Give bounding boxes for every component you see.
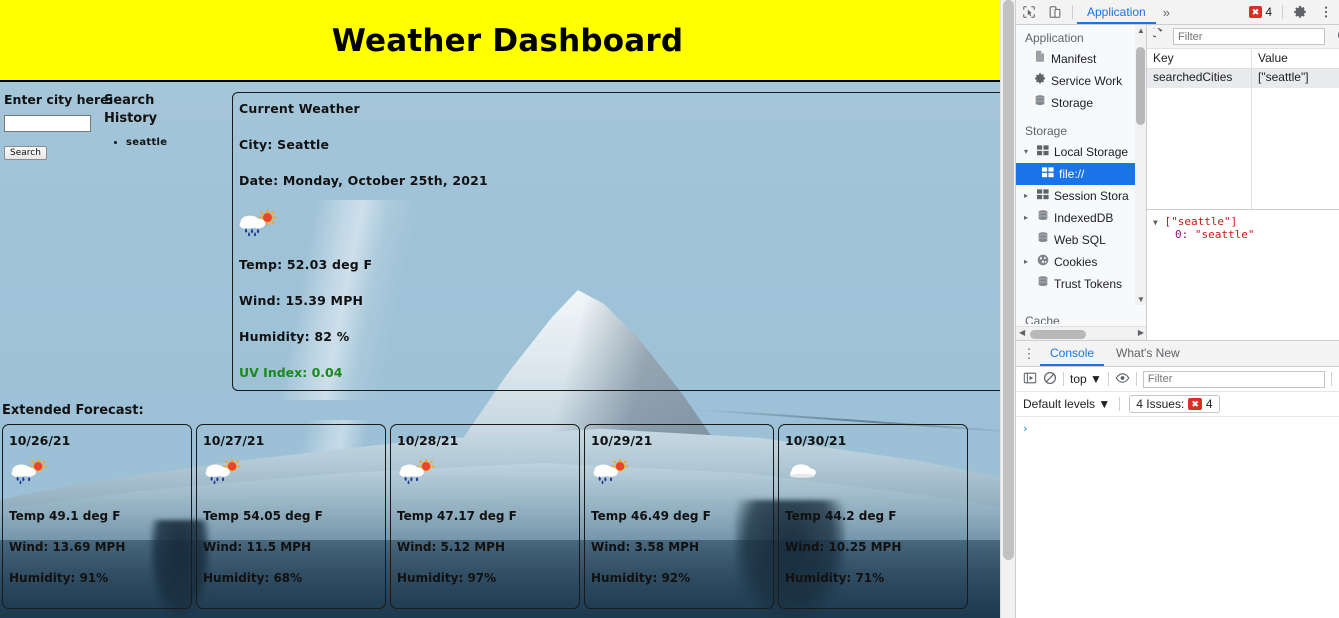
forecast-card: 10/26/21 Temp 49.1 deg F Wind: 13.69 MPH… xyxy=(2,424,192,609)
search-history-item[interactable]: seattle xyxy=(126,137,230,148)
console-levels-selector[interactable]: Default levels ▼ xyxy=(1023,397,1110,411)
column-header-value[interactable]: Value xyxy=(1252,49,1294,68)
tab-application[interactable]: Application xyxy=(1077,0,1156,24)
table-icon xyxy=(1037,187,1049,205)
cloud-icon xyxy=(787,458,967,491)
forecast-card: 10/28/21 Temp 47.17 deg F Wind: 5.12 MPH… xyxy=(390,424,580,609)
forecast-humidity: Humidity: 92% xyxy=(591,571,773,585)
current-humidity: Humidity: 82 % xyxy=(239,329,1006,344)
current-date: Date: Monday, October 25th, 2021 xyxy=(239,173,1006,188)
rain-sun-cloud-icon xyxy=(11,458,191,491)
table-row[interactable]: searchedCities ["seattle"] xyxy=(1147,69,1339,88)
forecast-wind: Wind: 13.69 MPH xyxy=(9,540,191,554)
forecast-card: 10/30/21 Temp 44.2 deg F Wind: 10.25 xyxy=(778,424,968,609)
screenshot-root: Weather Dashboard Enter city here: Searc… xyxy=(0,0,1339,618)
tab-whats-new[interactable]: What's New xyxy=(1106,341,1190,366)
rain-sun-cloud-icon xyxy=(239,209,1006,243)
local-storage-content: Key Value searchedCities ["seattle"] ▼ xyxy=(1147,25,1339,340)
forecast-humidity: Humidity: 71% xyxy=(785,571,967,585)
refresh-icon[interactable] xyxy=(1153,28,1167,45)
rain-sun-cloud-icon xyxy=(399,458,579,491)
extended-forecast-title: Extended Forecast: xyxy=(2,403,1015,418)
console-divider-2 xyxy=(1108,372,1109,386)
console-levels-label: Default levels xyxy=(1023,397,1095,411)
search-panel: Enter city here: Search xyxy=(0,92,100,160)
error-badge-icon: ✖ xyxy=(1188,398,1202,410)
forecast-wind: Wind: 5.12 MPH xyxy=(397,540,579,554)
page-header-banner: Weather Dashboard xyxy=(0,0,1015,82)
search-history-list: seattle xyxy=(104,137,230,148)
table-icon xyxy=(1042,165,1054,183)
sidebar-item-label: Storage xyxy=(1051,94,1093,112)
eye-icon[interactable] xyxy=(1115,372,1130,387)
value-preview-pane: ▼ ["seattle"] 0: "seattle" xyxy=(1147,209,1339,341)
devtools-toolbar: Application » ✖ 4 xyxy=(1016,0,1339,25)
current-wind: Wind: 15.39 MPH xyxy=(239,293,1006,308)
rain-sun-cloud-icon xyxy=(205,458,385,491)
preview-root-row[interactable]: ▼ ["seattle"] xyxy=(1153,215,1333,228)
application-sidebar: Application Manifest Service Work xyxy=(1016,25,1147,340)
forecast-temp: Temp 49.1 deg F xyxy=(9,509,191,523)
sidebar-item-file-origin[interactable]: file:// xyxy=(1016,163,1146,185)
issues-chip-count: 4 xyxy=(1206,397,1213,411)
devtools-panel: Application » ✖ 4 Applicat xyxy=(1015,0,1339,618)
cell-key: searchedCities xyxy=(1147,69,1252,88)
table-empty-key-col xyxy=(1147,88,1252,209)
sidebar-item-cookies[interactable]: ▸ Cookies xyxy=(1016,251,1146,273)
sidebar-item-indexeddb[interactable]: ▸ IndexedDB xyxy=(1016,207,1146,229)
cookie-icon xyxy=(1037,253,1049,271)
page-scrollbar-thumb[interactable] xyxy=(1003,0,1014,560)
chevron-down-icon[interactable]: ▼ xyxy=(1153,218,1158,227)
forecast-temp: Temp 46.49 deg F xyxy=(591,509,773,523)
search-history-title: Search History xyxy=(104,92,166,127)
sidebar-item-label: Trust Tokens xyxy=(1054,275,1122,293)
preview-root-value: ["seattle"] xyxy=(1164,215,1237,228)
sidebar-item-label: Service Work xyxy=(1051,72,1122,90)
storage-filter-input[interactable] xyxy=(1173,28,1325,45)
current-weather-heading: Current Weather xyxy=(239,101,1006,116)
sidebar-scrollbar-thumb[interactable] xyxy=(1136,47,1145,125)
forecast-humidity: Humidity: 91% xyxy=(9,571,191,585)
storage-filter-toolbar xyxy=(1147,25,1339,49)
inspect-cursor-icon[interactable] xyxy=(1016,0,1042,24)
table-icon xyxy=(1037,143,1049,161)
preview-entry-value: "seattle" xyxy=(1195,228,1255,241)
sidebar-section-storage: Storage xyxy=(1016,114,1146,141)
sidebar-item-service-workers[interactable]: Service Work xyxy=(1016,70,1146,92)
forecast-card: 10/29/21 Temp 46.49 deg F Wind: 3.58 MPH… xyxy=(584,424,774,609)
sidebar-section-cache-clipped: Cache xyxy=(1025,314,1060,324)
issues-chip[interactable]: 4 Issues: ✖ 4 xyxy=(1129,395,1219,413)
toolbar-divider xyxy=(1072,5,1073,19)
issues-counter[interactable]: ✖ 4 xyxy=(1243,5,1278,19)
sidebar-horizontal-scrollbar[interactable]: ◀ ▶ xyxy=(1016,326,1147,340)
chevron-down-icon[interactable]: ▾ xyxy=(1024,143,1032,161)
scroll-up-arrow-icon[interactable]: ▲ xyxy=(1137,26,1145,35)
forecast-date: 10/30/21 xyxy=(785,433,967,448)
manifest-file-icon xyxy=(1034,50,1046,68)
more-tabs-chevron-icon[interactable]: » xyxy=(1156,5,1177,20)
sidebar-item-web-sql[interactable]: Web SQL xyxy=(1016,229,1146,251)
sidebar-item-label: Cookies xyxy=(1054,253,1097,271)
gear-icon[interactable] xyxy=(1287,0,1313,24)
console-divider-3 xyxy=(1136,372,1137,386)
execution-context-icon[interactable] xyxy=(1023,371,1037,388)
console-levels-bar: Default levels ▼ 4 Issues: ✖ 4 xyxy=(1016,392,1339,417)
device-toolbar-icon[interactable] xyxy=(1042,0,1068,24)
console-divider-1 xyxy=(1063,372,1064,386)
search-input-label: Enter city here: xyxy=(4,92,100,107)
database-icon xyxy=(1037,275,1049,293)
preview-entry-row: 0: "seattle" xyxy=(1153,228,1333,241)
page-content: Weather Dashboard Enter city here: Searc… xyxy=(0,0,1015,609)
console-prompt-icon: › xyxy=(1022,422,1029,435)
sidebar-item-storage[interactable]: Storage xyxy=(1016,92,1146,114)
page-vertical-scrollbar[interactable] xyxy=(1000,0,1015,618)
sidebar-vertical-scrollbar[interactable]: ▲ ▼ xyxy=(1135,25,1146,305)
forecast-date: 10/29/21 xyxy=(591,433,773,448)
console-filter-input[interactable] xyxy=(1143,371,1325,388)
current-temp: Temp: 52.03 deg F xyxy=(239,257,1006,272)
forecast-temp: Temp 47.17 deg F xyxy=(397,509,579,523)
local-storage-table: Key Value searchedCities ["seattle"] xyxy=(1147,49,1339,88)
forecast-temp: Temp 44.2 deg F xyxy=(785,509,967,523)
main-row: Enter city here: Search Search History s… xyxy=(0,82,1015,391)
sidebar-section-application: Application xyxy=(1016,25,1146,48)
forecast-card: 10/27/21 Temp 54.05 deg F Wind: 11.5 MPH… xyxy=(196,424,386,609)
column-header-key[interactable]: Key xyxy=(1147,49,1252,68)
sidebar-item-label: Session Stora xyxy=(1054,187,1129,205)
sidebar-item-manifest[interactable]: Manifest xyxy=(1016,48,1146,70)
sidebar-item-label: file:// xyxy=(1059,165,1084,183)
forecast-wind: Wind: 11.5 MPH xyxy=(203,540,385,554)
issues-count: 4 xyxy=(1265,5,1272,19)
chevron-right-icon[interactable]: ▸ xyxy=(1024,209,1032,227)
console-divider-4 xyxy=(1331,372,1332,386)
database-icon xyxy=(1034,94,1046,112)
more-vertical-icon[interactable]: ⋮ xyxy=(1020,346,1038,362)
table-empty-area xyxy=(1147,88,1339,209)
chevron-right-icon[interactable]: ▸ xyxy=(1024,187,1032,205)
chevron-right-icon[interactable]: ▸ xyxy=(1024,253,1032,271)
forecast-date: 10/28/21 xyxy=(397,433,579,448)
city-search-input[interactable] xyxy=(4,115,91,132)
search-history-panel: Search History seattle xyxy=(100,92,230,148)
sidebar-item-label: Local Storage xyxy=(1054,143,1128,161)
forecast-temp: Temp 54.05 deg F xyxy=(203,509,385,523)
console-context-selector[interactable]: top ▼ xyxy=(1070,372,1102,386)
forecast-humidity: Humidity: 97% xyxy=(397,571,579,585)
table-header-row: Key Value xyxy=(1147,49,1339,69)
preview-entry-index: 0: xyxy=(1175,228,1188,241)
forecast-wind: Wind: 3.58 MPH xyxy=(591,540,773,554)
sidebar-item-local-storage[interactable]: ▾ Local Storage xyxy=(1016,141,1146,163)
more-vertical-icon[interactable] xyxy=(1313,0,1339,24)
forecast-wind: Wind: 10.25 MPH xyxy=(785,540,967,554)
forecast-humidity: Humidity: 68% xyxy=(203,571,385,585)
sidebar-item-trust-tokens[interactable]: Trust Tokens xyxy=(1016,273,1146,295)
forecast-date: 10/27/21 xyxy=(203,433,385,448)
sidebar-item-label: Web SQL xyxy=(1054,231,1106,249)
forecast-date: 10/26/21 xyxy=(9,433,191,448)
toolbar-divider-2 xyxy=(1282,5,1283,19)
sidebar-item-label: Manifest xyxy=(1051,50,1096,68)
search-button[interactable]: Search xyxy=(4,146,47,160)
console-toolbar: top ▼ xyxy=(1016,367,1339,392)
database-icon xyxy=(1037,209,1049,227)
cell-value: ["seattle"] xyxy=(1252,69,1315,88)
current-uv-index: UV Index: 0.04 xyxy=(239,365,1006,380)
devtools-drawer: ⋮ Console What's New xyxy=(1016,341,1339,618)
database-icon xyxy=(1037,231,1049,249)
scroll-down-arrow-icon[interactable]: ▼ xyxy=(1137,295,1145,304)
current-city: City: Seattle xyxy=(239,137,1006,152)
sidebar-item-session-storage[interactable]: ▸ Session Stora xyxy=(1016,185,1146,207)
error-badge-icon: ✖ xyxy=(1249,6,1263,18)
sidebar-hscrollbar-thumb[interactable] xyxy=(1030,330,1086,339)
scroll-left-arrow-icon[interactable]: ◀ xyxy=(1019,328,1025,337)
weather-dashboard-page: Weather Dashboard Enter city here: Searc… xyxy=(0,0,1015,618)
chevron-down-icon[interactable]: ▼ xyxy=(1090,372,1102,386)
forecast-card-row: 10/26/21 Temp 49.1 deg F Wind: 13.69 MPH… xyxy=(0,424,1015,609)
console-log-area[interactable]: › xyxy=(1016,417,1339,618)
chevron-down-icon[interactable]: ▼ xyxy=(1098,397,1110,411)
rain-sun-cloud-icon xyxy=(593,458,773,491)
table-empty-value-col xyxy=(1252,88,1339,209)
tab-console[interactable]: Console xyxy=(1040,341,1104,366)
console-context-label: top xyxy=(1070,372,1087,386)
page-title: Weather Dashboard xyxy=(332,23,683,59)
current-weather-card: Current Weather City: Seattle Date: Mond… xyxy=(232,92,1007,391)
devtools-application-panel: Application Manifest Service Work xyxy=(1016,25,1339,341)
scroll-right-arrow-icon[interactable]: ▶ xyxy=(1138,328,1144,337)
drawer-tab-bar: ⋮ Console What's New xyxy=(1016,341,1339,367)
clear-console-icon[interactable] xyxy=(1043,371,1057,388)
console-divider-5 xyxy=(1119,397,1120,411)
issues-chip-label: 4 Issues: xyxy=(1136,397,1184,411)
sidebar-item-label: IndexedDB xyxy=(1054,209,1113,227)
gear-icon xyxy=(1034,72,1046,90)
